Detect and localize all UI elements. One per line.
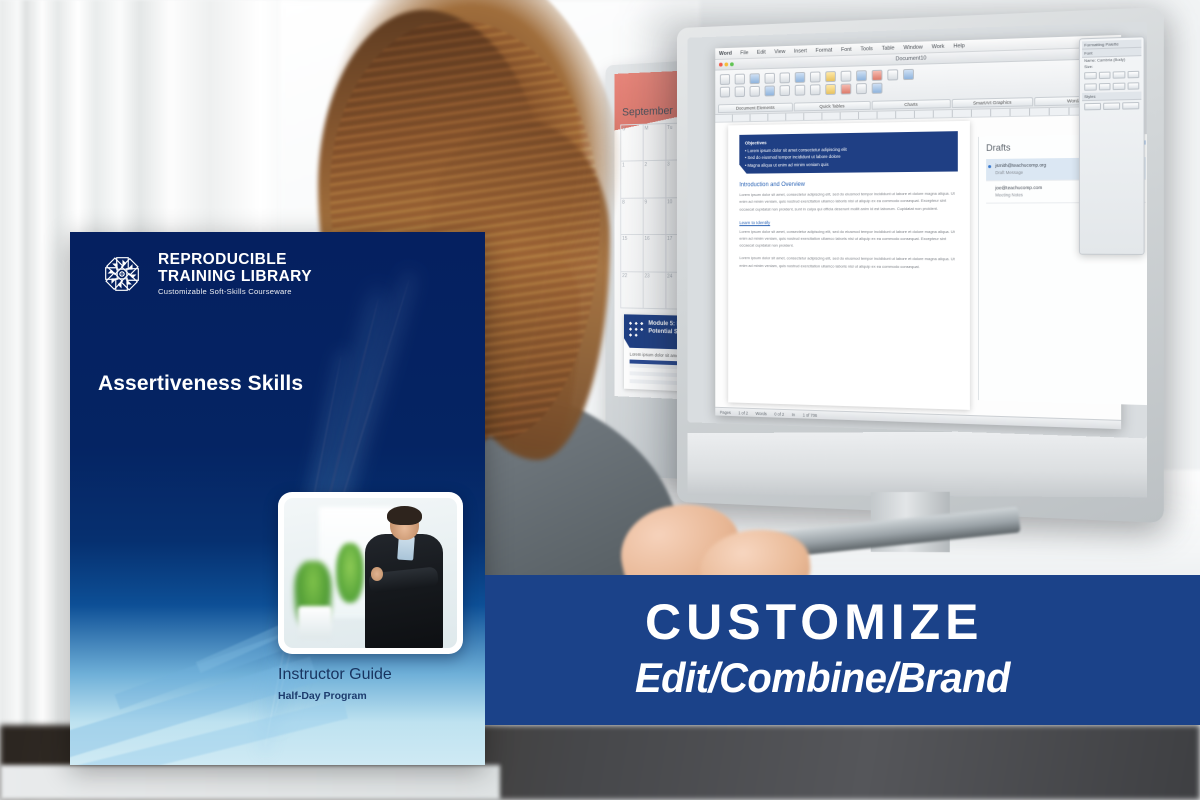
menu-help[interactable]: Help bbox=[953, 43, 964, 49]
menu-edit[interactable]: Edit bbox=[757, 49, 766, 55]
status-words-label: Words bbox=[756, 411, 767, 416]
open-icon[interactable] bbox=[735, 74, 745, 85]
word-window[interactable]: Word File Edit View Insert Format Font T… bbox=[715, 35, 1121, 429]
format-painter-icon[interactable] bbox=[825, 71, 836, 82]
imac-chin bbox=[688, 431, 1147, 498]
palette-bold-icon[interactable] bbox=[1084, 72, 1096, 80]
minimize-icon[interactable] bbox=[724, 62, 728, 66]
brand-tagline: Customizable Soft-Skills Courseware bbox=[158, 288, 312, 296]
status-in-label: In bbox=[792, 412, 795, 417]
underline-icon[interactable] bbox=[750, 86, 760, 97]
menu-format[interactable]: Format bbox=[816, 47, 833, 53]
product-cover-card: REPRODUCIBLE TRAINING LIBRARY Customizab… bbox=[70, 232, 485, 765]
instructor-photo bbox=[284, 498, 457, 648]
spacing-icon[interactable] bbox=[872, 83, 883, 94]
palette-italic-icon[interactable] bbox=[1098, 72, 1110, 80]
palette-shadow-icon[interactable] bbox=[1127, 82, 1139, 90]
palette-underline-icon[interactable] bbox=[1113, 71, 1125, 79]
photo-plant-right bbox=[336, 543, 364, 603]
print-icon[interactable] bbox=[765, 73, 775, 84]
new-doc-icon[interactable] bbox=[720, 74, 730, 85]
objective-1: Lorem ipsum dolor sit amet consectetur a… bbox=[747, 147, 846, 153]
copy-icon[interactable] bbox=[795, 72, 805, 83]
paste-icon[interactable] bbox=[810, 71, 821, 82]
undo-icon[interactable] bbox=[841, 71, 852, 82]
cut-icon[interactable] bbox=[780, 72, 790, 83]
italic-icon[interactable] bbox=[735, 86, 745, 97]
rosette-pinwheel-icon bbox=[98, 250, 146, 298]
font-color-icon[interactable] bbox=[841, 83, 852, 94]
paragraph-3: Lorem ipsum dolor sit amet, consectetur … bbox=[739, 255, 957, 270]
objective-3: Magna aliqua ut enim ad minim veniam qui… bbox=[747, 162, 828, 168]
foreground-light-strip bbox=[0, 765, 500, 800]
tab-smartart[interactable]: SmartArt Graphics bbox=[952, 97, 1033, 108]
paragraph-2: Lorem ipsum dolor sit amet, consectetur … bbox=[739, 228, 957, 250]
align-center-icon[interactable] bbox=[780, 85, 790, 96]
tab-document-elements[interactable]: Document Elements bbox=[718, 103, 793, 113]
paragraph-1: Lorem ipsum dolor sit amet, consectetur … bbox=[739, 190, 957, 212]
brand-line-2: TRAINING LIBRARY bbox=[158, 269, 312, 285]
menu-file[interactable]: File bbox=[740, 50, 748, 56]
close-icon[interactable] bbox=[719, 63, 723, 67]
brand-line-1: REPRODUCIBLE bbox=[158, 252, 312, 268]
menu-font[interactable]: Font bbox=[841, 46, 852, 52]
status-pages-label: Pages bbox=[720, 409, 731, 414]
photo-vase bbox=[298, 606, 333, 639]
status-pages-value: 1 of 2 bbox=[738, 410, 748, 415]
objective-2: Sed do eiusmod tempor incididunt ut labo… bbox=[747, 154, 840, 160]
status-in-value: 1 of 706 bbox=[803, 412, 817, 417]
palette-style-c-icon[interactable] bbox=[1122, 102, 1139, 110]
zoom-icon[interactable] bbox=[730, 62, 734, 66]
toolbox-icon[interactable] bbox=[903, 69, 914, 80]
palette-subscript-icon[interactable] bbox=[1098, 83, 1110, 91]
sub-heading: Learn to Identify bbox=[739, 220, 957, 225]
course-title: Assertiveness Skills bbox=[98, 372, 303, 396]
numbering-icon[interactable] bbox=[810, 84, 821, 95]
table-icon[interactable] bbox=[872, 70, 883, 81]
guide-subtitle: Half-Day Program bbox=[278, 690, 367, 702]
imac-screen: Word File Edit View Insert Format Font T… bbox=[688, 22, 1147, 439]
redo-icon[interactable] bbox=[856, 70, 867, 81]
brand-logo: REPRODUCIBLE TRAINING LIBRARY Customizab… bbox=[98, 250, 312, 298]
bullets-icon[interactable] bbox=[795, 85, 805, 96]
status-words-value: 0 of 2 bbox=[774, 411, 784, 416]
menu-table[interactable]: Table bbox=[882, 45, 895, 51]
palette-style-b-icon[interactable] bbox=[1103, 102, 1120, 110]
objectives-heading: Objectives bbox=[745, 140, 767, 145]
photo-person-hair bbox=[387, 506, 422, 526]
customize-banner: CUSTOMIZE Edit/Combine/Brand bbox=[485, 575, 1200, 725]
unread-dot-icon bbox=[988, 165, 991, 168]
poster-image: September SMTuWThFSa 1234567 89101112131… bbox=[0, 0, 1200, 800]
banner-headline: CUSTOMIZE bbox=[645, 597, 984, 647]
palette-strike-icon[interactable] bbox=[1127, 71, 1139, 79]
objectives-box: Objectives • Lorem ipsum dolor sit amet … bbox=[739, 131, 957, 174]
document-title: Document10 bbox=[896, 55, 927, 62]
section-heading: Introduction and Overview bbox=[739, 181, 957, 189]
palette-color-icon[interactable] bbox=[1113, 83, 1125, 91]
palette-font-value[interactable]: Cambria (Body) bbox=[1097, 58, 1125, 63]
align-left-icon[interactable] bbox=[765, 85, 775, 96]
document-page[interactable]: Objectives • Lorem ipsum dolor sit amet … bbox=[728, 121, 970, 410]
indent-icon[interactable] bbox=[856, 83, 867, 94]
palette-font-label: Name: bbox=[1084, 59, 1096, 63]
menu-insert[interactable]: Insert bbox=[794, 48, 807, 54]
photo-person-hand bbox=[371, 567, 383, 581]
slide-dots-icon bbox=[628, 320, 645, 338]
palette-style-a-icon[interactable] bbox=[1084, 103, 1101, 111]
palette-button-row-3[interactable] bbox=[1082, 100, 1141, 113]
window-controls[interactable] bbox=[719, 62, 734, 66]
menu-view[interactable]: View bbox=[774, 49, 785, 55]
menu-window[interactable]: Window bbox=[903, 44, 922, 51]
guide-title: Instructor Guide bbox=[278, 666, 392, 684]
brand-wordmark: REPRODUCIBLE TRAINING LIBRARY Customizab… bbox=[158, 252, 312, 295]
tab-quick-tables[interactable]: Quick Tables bbox=[794, 101, 871, 112]
menu-tools[interactable]: Tools bbox=[860, 46, 873, 52]
highlight-icon[interactable] bbox=[825, 84, 836, 95]
palette-superscript-icon[interactable] bbox=[1084, 83, 1096, 91]
columns-icon[interactable] bbox=[887, 69, 898, 80]
menu-work[interactable]: Work bbox=[932, 43, 945, 49]
menu-app-name: Word bbox=[719, 50, 732, 56]
instructor-photo-frame bbox=[278, 492, 463, 654]
bold-icon[interactable] bbox=[720, 87, 730, 98]
tab-charts[interactable]: Charts bbox=[872, 99, 951, 110]
formatting-palette[interactable]: Formatting Palette Font Name: Cambria (B… bbox=[1079, 36, 1145, 255]
banner-subhead: Edit/Combine/Brand bbox=[635, 657, 1010, 699]
save-icon[interactable] bbox=[750, 73, 760, 84]
